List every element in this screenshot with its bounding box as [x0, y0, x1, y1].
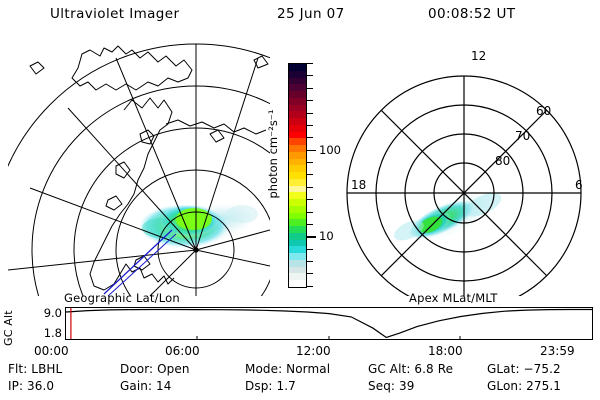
status-glon: GLon: 275.1: [487, 379, 561, 393]
colorbar-segment-19: [289, 192, 306, 199]
colorbar-segment-13: [289, 152, 306, 159]
status-glat: GLat: −75.2: [487, 362, 561, 376]
colorbar-segment-29: [289, 260, 306, 267]
mlt-label-6: 6: [575, 178, 583, 192]
page-title: Ultraviolet Imager: [50, 6, 179, 22]
status-ip: IP: 36.0: [8, 379, 54, 393]
colorbar-major-tick-0: [307, 150, 316, 152]
colorbar-minor-tick-2: [307, 88, 313, 89]
apex-plot[interactable]: 12 18 6 0 60 70 80: [335, 38, 593, 296]
coastlines: [30, 46, 268, 290]
colorbar-segment-28: [289, 253, 306, 260]
mlat-label-60: 60: [536, 104, 551, 118]
colorbar-segment-2: [289, 78, 306, 85]
status-flt: Flt: LBHL: [8, 362, 62, 376]
orbit-xtick-3: 18:00: [428, 344, 463, 358]
status-bar: Flt: LBHL IP: 36.0 Door: Open Gain: 14 M…: [0, 362, 600, 400]
colorbar-segment-9: [289, 125, 306, 132]
geographic-panel[interactable]: [8, 38, 270, 296]
ultraviolet-imager-window: Ultraviolet Imager 25 Jun 07 00:08:52 UT: [0, 0, 600, 400]
colorbar-segment-17: [289, 179, 306, 186]
colorbar-minor-tick-4: [307, 113, 313, 114]
status-mode: Mode: Normal: [245, 362, 330, 376]
colorbar-segment-5: [289, 98, 306, 105]
colorbar-segment-18: [289, 186, 306, 193]
geographic-plot[interactable]: [8, 38, 270, 296]
colorbar-minor-tick-18: [307, 286, 313, 287]
colorbar-segment-26: [289, 240, 306, 247]
colorbar-segment-27: [289, 246, 306, 253]
colorbar-segment-22: [289, 213, 306, 220]
colorbar-minor-tick-15: [307, 249, 313, 250]
colorbar-minor-tick-0: [307, 63, 313, 64]
status-door: Door: Open: [120, 362, 190, 376]
orbit-altitude-chart[interactable]: GC Alt 9.0 1.8 00:00 06:00 12:00 18:00 2…: [0, 300, 600, 360]
header-time: 00:08:52 UT: [428, 6, 515, 22]
colorbar-legend: photon cm⁻²s⁻¹ 10010: [255, 55, 335, 300]
colorbar-minor-tick-13: [307, 224, 313, 225]
colorbar-segment-31: [289, 273, 306, 280]
header-date: 25 Jun 07: [277, 6, 345, 22]
status-gcalt: GC Alt: 6.8 Re: [368, 362, 453, 376]
mlat-ring-labels: 60 70 80: [495, 104, 551, 168]
colorbar-minor-tick-6: [307, 137, 313, 138]
colorbar-segment-23: [289, 219, 306, 226]
header-bar: Ultraviolet Imager 25 Jun 07 00:08:52 UT: [0, 6, 600, 30]
colorbar-segment-1: [289, 71, 306, 78]
colorbar-minor-tick-11: [307, 199, 313, 200]
colorbar-segment-14: [289, 159, 306, 166]
colorbar-segment-12: [289, 145, 306, 152]
orbit-xtick-4: 23:59: [540, 344, 575, 358]
status-gain: Gain: 14: [120, 379, 172, 393]
orbit-x-axis-labels: 00:00 06:00 12:00 18:00 23:59: [0, 344, 600, 360]
colorbar-minor-tick-1: [307, 75, 313, 76]
colorbar-major-tick-1: [307, 236, 316, 238]
colorbar-gradient: [288, 63, 307, 288]
colorbar-segment-0: [289, 64, 306, 71]
colorbar-segment-16: [289, 172, 306, 179]
colorbar-segment-21: [289, 206, 306, 213]
colorbar-minor-tick-16: [307, 261, 313, 262]
colorbar-tick-label-10: 10: [319, 229, 334, 243]
mlat-label-70: 70: [515, 129, 530, 143]
colorbar-minor-tick-8: [307, 162, 313, 163]
status-dsp: Dsp: 1.7: [245, 379, 296, 393]
colorbar-minor-tick-3: [307, 100, 313, 101]
colorbar-segment-4: [289, 91, 306, 98]
pole-marker: [193, 247, 198, 252]
colorbar-segment-24: [289, 226, 306, 233]
colorbar-segment-15: [289, 165, 306, 172]
colorbar-minor-tick-10: [307, 187, 313, 188]
orbit-plot-frame[interactable]: [65, 307, 593, 340]
colorbar-segment-11: [289, 138, 306, 145]
mlt-label-12: 12: [471, 49, 486, 63]
orbit-xtick-1: 06:00: [165, 344, 200, 358]
colorbar-minor-tick-12: [307, 212, 313, 213]
orbit-altitude-curve: [66, 308, 592, 339]
colorbar-segment-25: [289, 233, 306, 240]
colorbar-minor-tick-17: [307, 273, 313, 274]
colorbar-segment-32: [289, 280, 306, 287]
mlat-label-80: 80: [495, 154, 510, 168]
colorbar-segment-30: [289, 267, 306, 274]
colorbar-segment-10: [289, 132, 306, 139]
colorbar-segment-20: [289, 199, 306, 206]
orbit-ytick-low: 1.8: [22, 326, 62, 340]
colorbar-segment-6: [289, 105, 306, 112]
colorbar-minor-tick-9: [307, 174, 313, 175]
mlt-label-18: 18: [351, 178, 366, 192]
colorbar-minor-tick-5: [307, 125, 313, 126]
colorbar-segment-3: [289, 84, 306, 91]
orbit-ytick-high: 9.0: [22, 306, 62, 320]
orbit-xtick-0: 00:00: [34, 344, 69, 358]
orbit-xtick-2: 12:00: [296, 344, 331, 358]
status-seq: Seq: 39: [368, 379, 414, 393]
apex-panel[interactable]: 12 18 6 0 60 70 80: [335, 38, 593, 296]
mlt-tick-labels: 12 18 6 0: [351, 49, 583, 296]
colorbar-axis-label: photon cm⁻²s⁻¹: [266, 74, 280, 234]
colorbar-segment-8: [289, 118, 306, 125]
colorbar-segment-7: [289, 111, 306, 118]
